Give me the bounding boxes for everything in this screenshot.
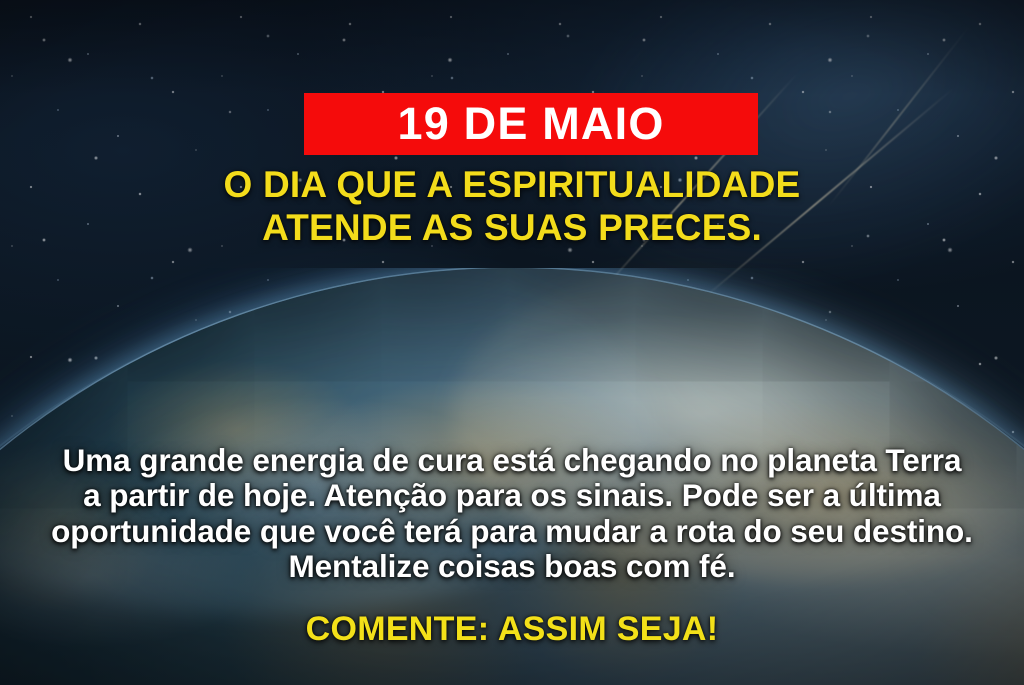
headline-line-2: ATENDE AS SUAS PRECES. (44, 206, 980, 249)
date-banner: 19 DE MAIO (304, 93, 758, 155)
poster-content: 19 DE MAIO O DIA QUE A ESPIRITUALIDADE A… (0, 0, 1024, 685)
headline-line-1: O DIA QUE A ESPIRITUALIDADE (44, 163, 980, 206)
poster-canvas: 19 DE MAIO O DIA QUE A ESPIRITUALIDADE A… (0, 0, 1024, 685)
date-banner-label: 19 DE MAIO (397, 101, 664, 146)
call-to-action-label: COMENTE: ASSIM SEJA! (0, 611, 1024, 648)
headline: O DIA QUE A ESPIRITUALIDADE ATENDE AS SU… (0, 163, 1024, 250)
body-paragraph: Uma grande energia de cura está chegando… (50, 443, 974, 585)
